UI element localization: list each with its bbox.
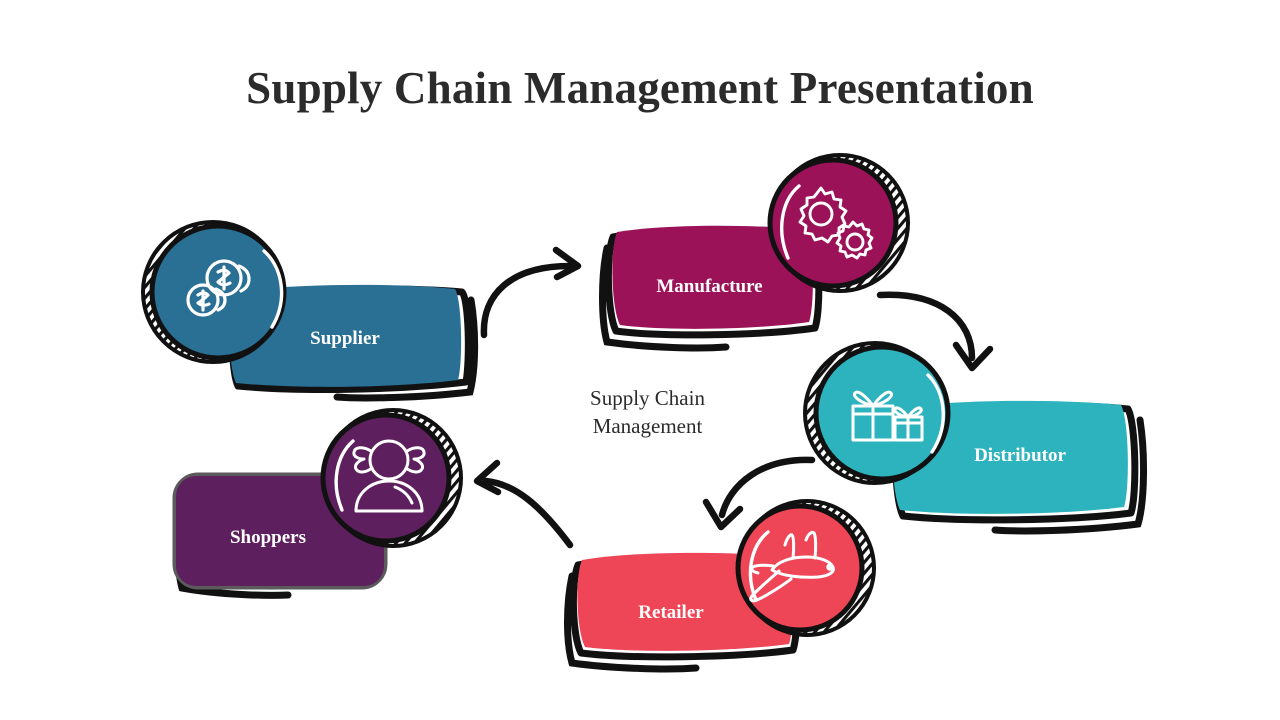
supplier-badge — [152, 226, 284, 358]
manufacture-badge — [770, 160, 896, 286]
node-supplier[interactable] — [143, 222, 475, 398]
retailer-badge — [738, 506, 862, 630]
arrow-supplier-to-manufacture — [484, 250, 578, 335]
node-manufacture[interactable] — [603, 155, 909, 348]
node-shoppers[interactable] — [176, 410, 461, 595]
arrow-retailer-to-shoppers — [477, 463, 570, 545]
slide-canvas: Supply Chain Management Presentation — [0, 0, 1280, 720]
diagram-canvas — [0, 0, 1280, 720]
node-distributor[interactable] — [805, 343, 1144, 531]
center-label: Supply Chain Management — [545, 385, 750, 440]
